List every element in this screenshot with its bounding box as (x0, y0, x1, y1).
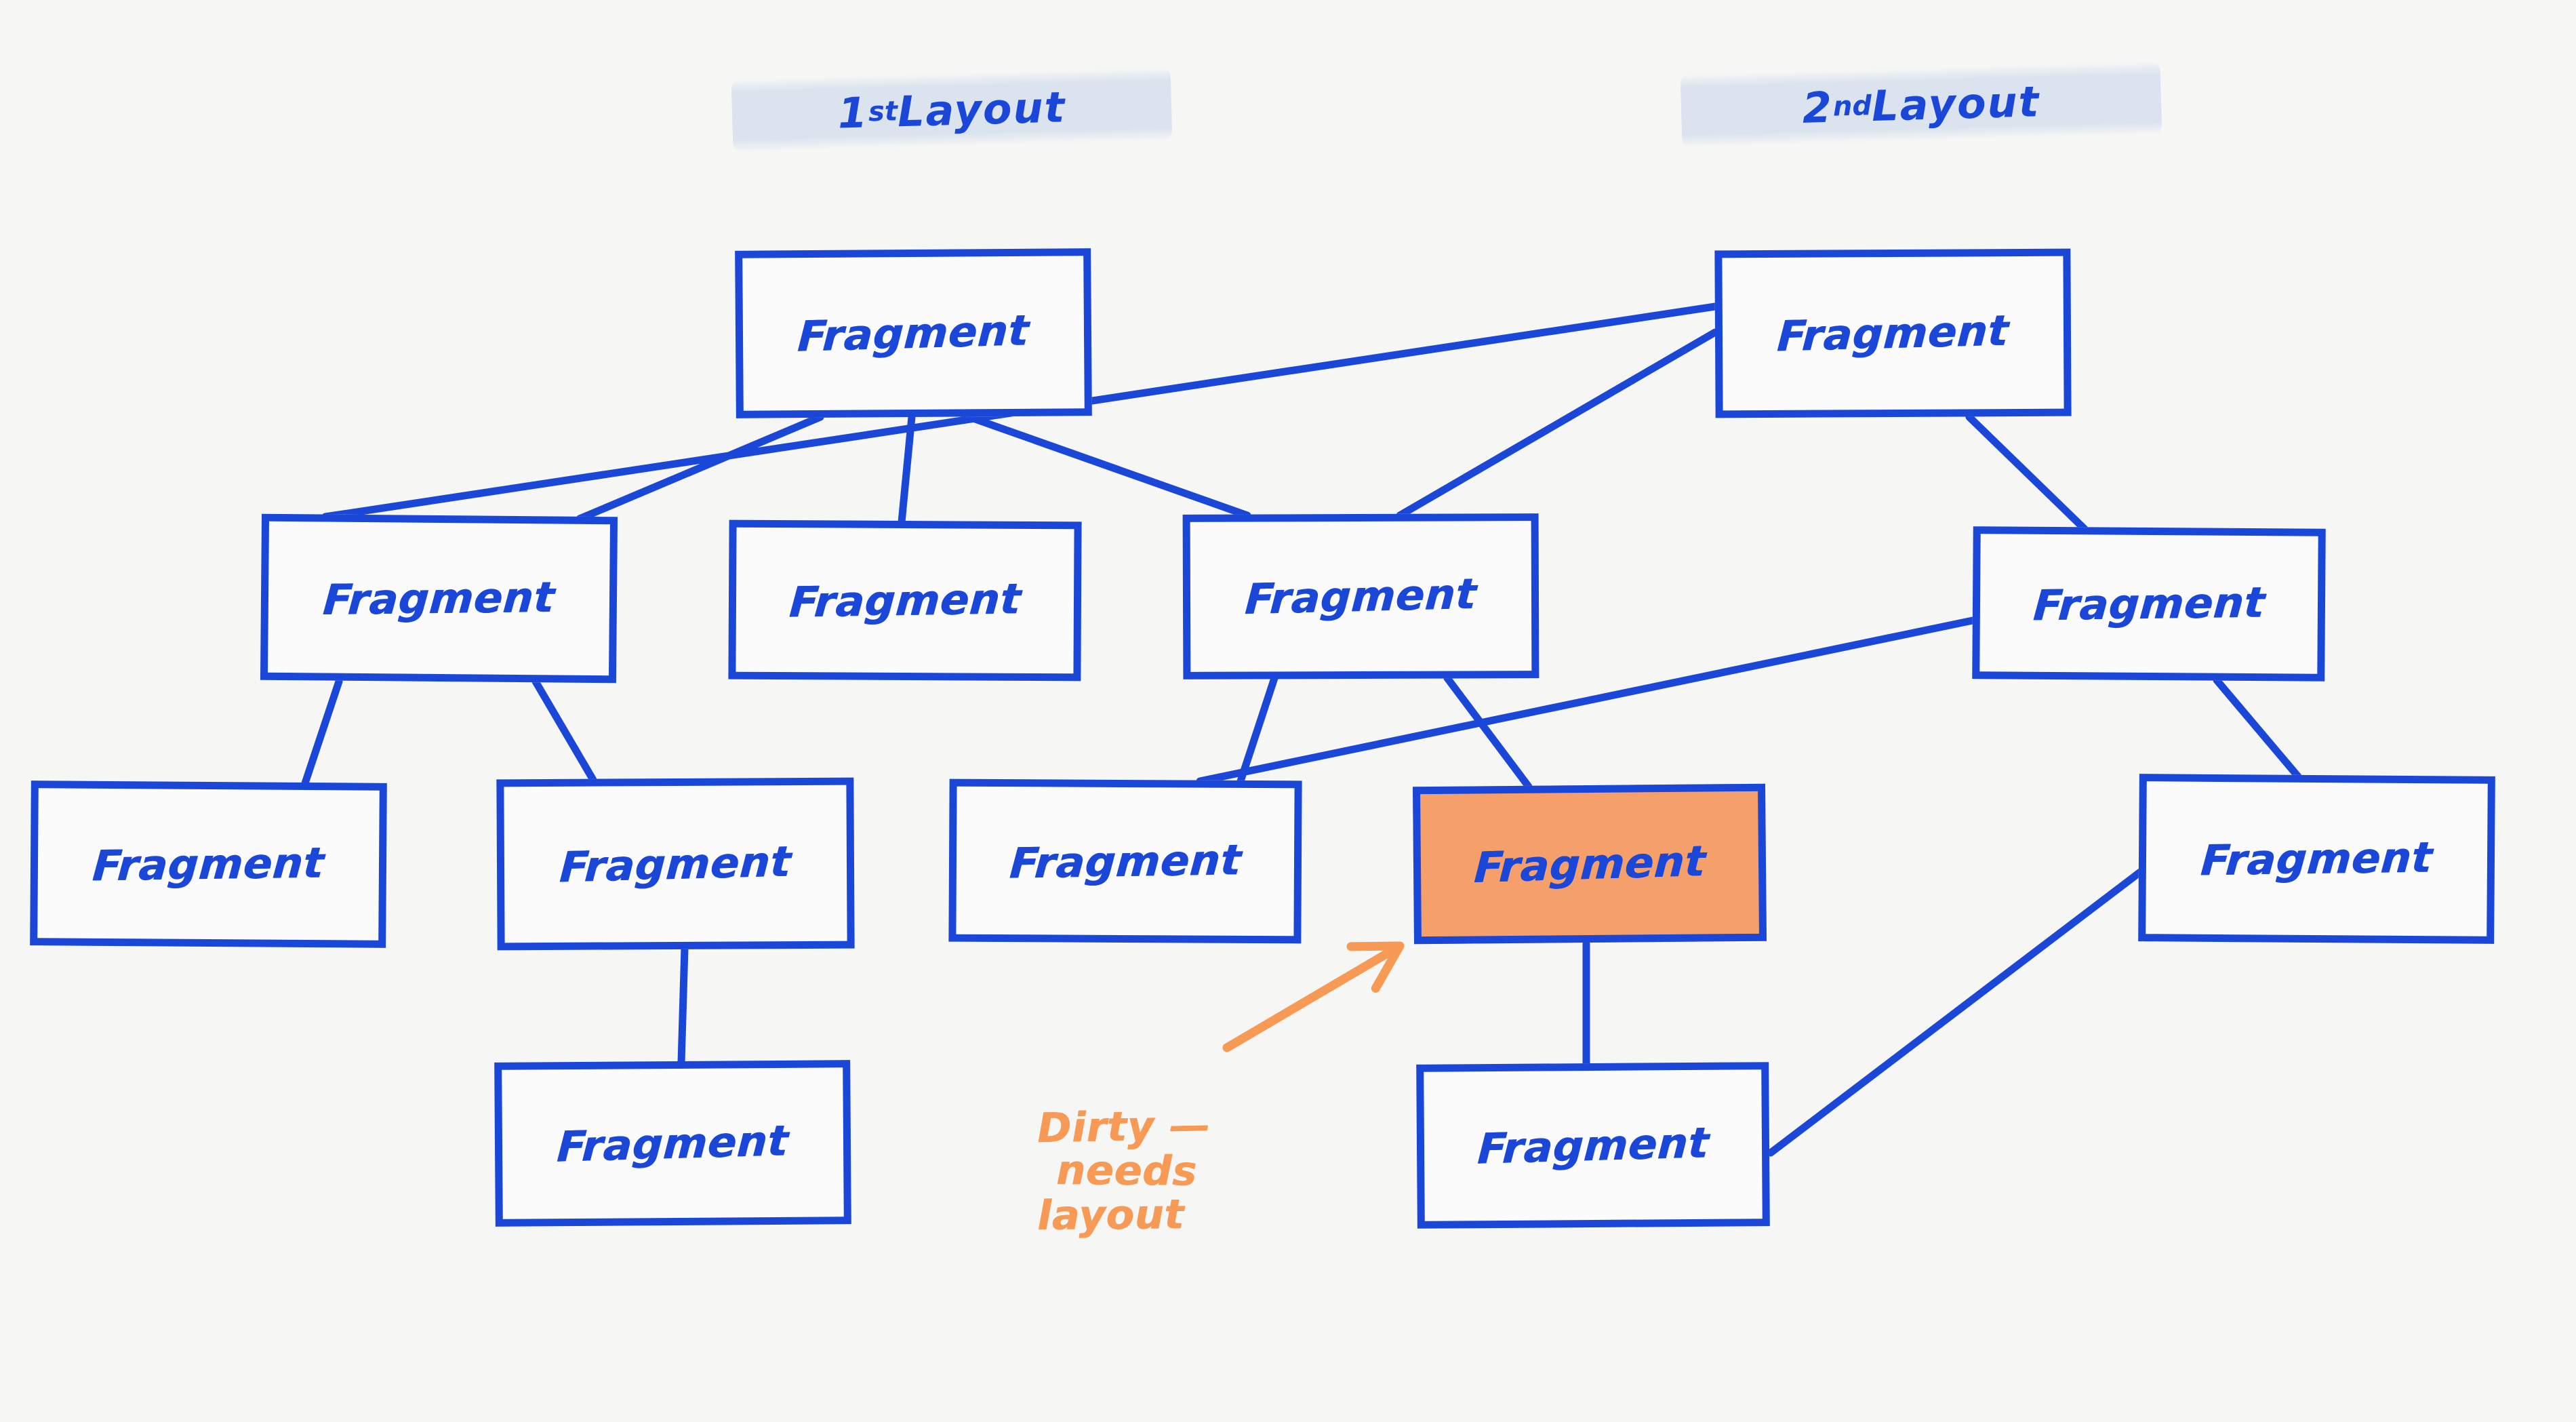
fragment-node-label: Fragment (1776, 306, 2011, 361)
edge-root-1-to-mid-1 (580, 417, 820, 519)
fragment-node-label: Fragment (556, 1115, 790, 1172)
dirty-needs-layout-annotation: Dirty —needslayout (1037, 1105, 1211, 1237)
fragment-node-bottom-2[interactable]: Fragment (1416, 1062, 1770, 1229)
section-label-text: Layout (1871, 77, 2040, 131)
fragment-node-label: Fragment (1008, 835, 1243, 888)
fragment-node-mid-1[interactable]: Fragment (260, 514, 618, 684)
fragment-node-label: Fragment (2032, 578, 2267, 631)
fragment-node-mid-4[interactable]: Fragment (1972, 526, 2326, 682)
edge-layer (0, 0, 2576, 1422)
arrow-head-barb-2 (1351, 946, 1400, 947)
fragment-node-label: Fragment (1244, 569, 1478, 624)
fragment-node-leaf-2[interactable]: Fragment (496, 778, 854, 951)
edge-mid-3-to-leaf-dirty (1447, 678, 1529, 787)
arrow-shaft (1227, 946, 1400, 1048)
annotation-line-1: Dirty — (1037, 1104, 1211, 1151)
fragment-node-label: Fragment (788, 574, 1023, 627)
fragment-node-bottom-1[interactable]: Fragment (494, 1060, 851, 1227)
edge-mid-1-to-leaf-1 (305, 682, 339, 783)
fragment-node-label: Fragment (1476, 1118, 1710, 1174)
annotation-line-3: layout (1037, 1192, 1211, 1238)
diagram-canvas: FragmentFragmentFragmentFragmentFragment… (0, 0, 2576, 1422)
fragment-node-mid-2[interactable]: Fragment (728, 520, 1081, 682)
section-label-text: Layout (897, 82, 1066, 136)
edge-mid-4-to-leaf-5 (2217, 680, 2298, 776)
fragment-node-root-1[interactable]: Fragment (735, 248, 1092, 418)
fragment-node-label: Fragment (91, 838, 326, 891)
fragment-node-label: Fragment (559, 836, 793, 892)
fragment-node-leaf-dirty[interactable]: Fragment (1413, 784, 1767, 945)
fragment-node-label: Fragment (797, 305, 1031, 361)
fragment-node-label: Fragment (321, 572, 557, 625)
fragment-node-label: Fragment (2199, 833, 2434, 886)
section-label-ordinal: nd (1832, 90, 1872, 123)
section-label-second-layout: 2nd Layout (1681, 61, 2162, 148)
fragment-node-leaf-5[interactable]: Fragment (2138, 774, 2495, 944)
edge-root-2-to-mid-4 (1969, 417, 2085, 529)
fragment-node-mid-3[interactable]: Fragment (1183, 513, 1539, 679)
annotation-line-2: needs (1056, 1149, 1211, 1194)
dirty-arrow (1227, 946, 1400, 1048)
edge-mid-1-to-leaf-2 (536, 682, 593, 780)
section-label-ordinal: st (868, 96, 898, 127)
section-label-first-layout: 1st Layout (731, 67, 1173, 153)
edge-root-2-to-mid-3 (1400, 332, 1715, 515)
section-label-number: 2 (1802, 82, 1834, 132)
edge-root-1-to-mid-3 (969, 417, 1247, 515)
edge-leaf-2-to-bottom-1 (681, 948, 685, 1063)
fragment-node-label: Fragment (1472, 835, 1706, 892)
connector-lines (305, 307, 2298, 1153)
edge-leaf-5-to-bottom-2 (1771, 868, 2146, 1153)
fragment-node-leaf-1[interactable]: Fragment (30, 781, 387, 948)
section-label-number: 1 (837, 87, 869, 138)
fragment-node-leaf-3[interactable]: Fragment (948, 779, 1302, 944)
fragment-node-root-2[interactable]: Fragment (1714, 249, 2071, 418)
